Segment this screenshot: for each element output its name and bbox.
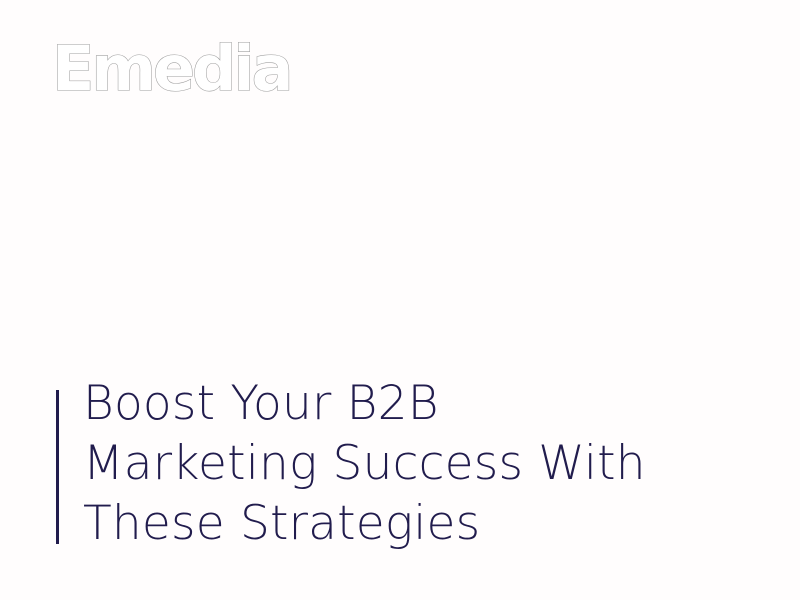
brand-logo-text: Emedia	[52, 32, 290, 105]
title-line-2: Marketing Success With	[83, 434, 646, 494]
page-title: Boost Your B2B Marketing Success With Th…	[59, 374, 646, 554]
title-line-1: Boost Your B2B	[83, 374, 646, 434]
emedia-logo-icon: Emedia	[52, 34, 292, 106]
slide-canvas: Emedia Boost Your B2B Marketing Success …	[0, 0, 800, 600]
slide-title-block: Boost Your B2B Marketing Success With Th…	[56, 374, 646, 554]
brand-logo[interactable]: Emedia	[52, 34, 292, 106]
title-line-3: These Strategies	[83, 494, 646, 554]
